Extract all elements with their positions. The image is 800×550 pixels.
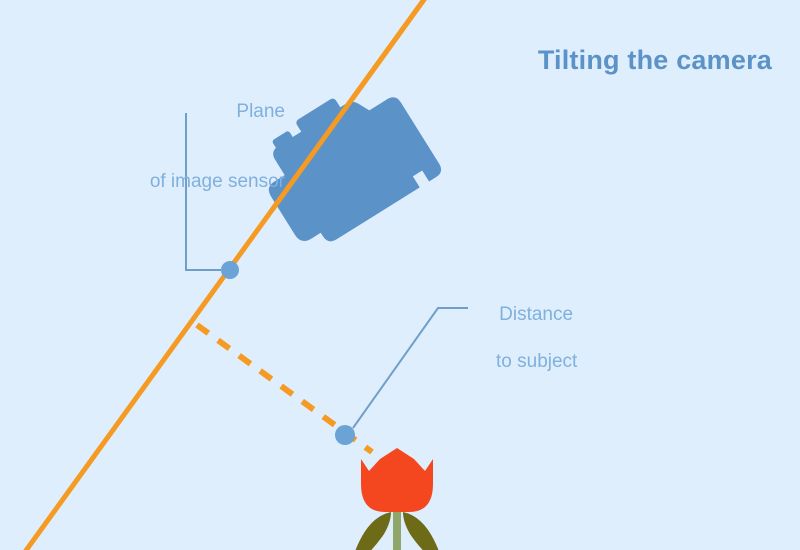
sensor-plane-point-marker: [221, 261, 239, 279]
distance-label-line-1: Distance: [499, 304, 573, 325]
distance-to-subject-label: Distance to subject: [478, 280, 678, 419]
subject-point-marker: [335, 425, 355, 445]
page-title: Tilting the camera: [538, 44, 772, 77]
plane-label-line-1: Plane: [60, 100, 285, 123]
plane-of-image-sensor-label: Plane of image sensor: [60, 54, 285, 239]
distance-label-line-2: to subject: [478, 350, 678, 373]
diagram-canvas: Tilting the camera Plane of image sensor…: [0, 0, 800, 550]
plane-label-line-2: of image sensor: [60, 170, 285, 193]
